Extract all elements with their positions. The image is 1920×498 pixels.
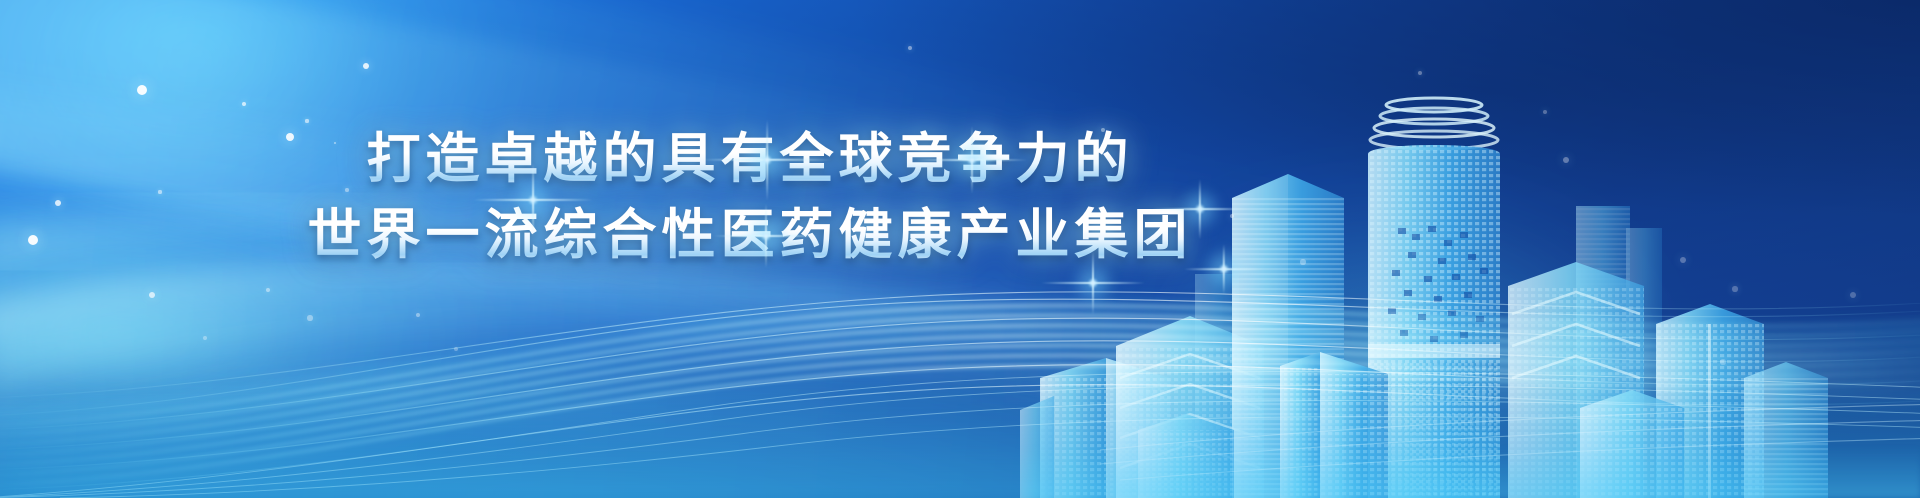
headline-line-2: 世界一流综合性医药健康产业集团 xyxy=(0,200,1500,270)
hero-banner: 打造卓越的具有全球竞争力的 世界一流综合性医药健康产业集团 xyxy=(0,0,1920,498)
bottom-sheen xyxy=(0,378,1920,498)
headline-block: 打造卓越的具有全球竞争力的 世界一流综合性医药健康产业集团 xyxy=(0,124,1500,270)
headline-line-1: 打造卓越的具有全球竞争力的 xyxy=(0,124,1500,194)
